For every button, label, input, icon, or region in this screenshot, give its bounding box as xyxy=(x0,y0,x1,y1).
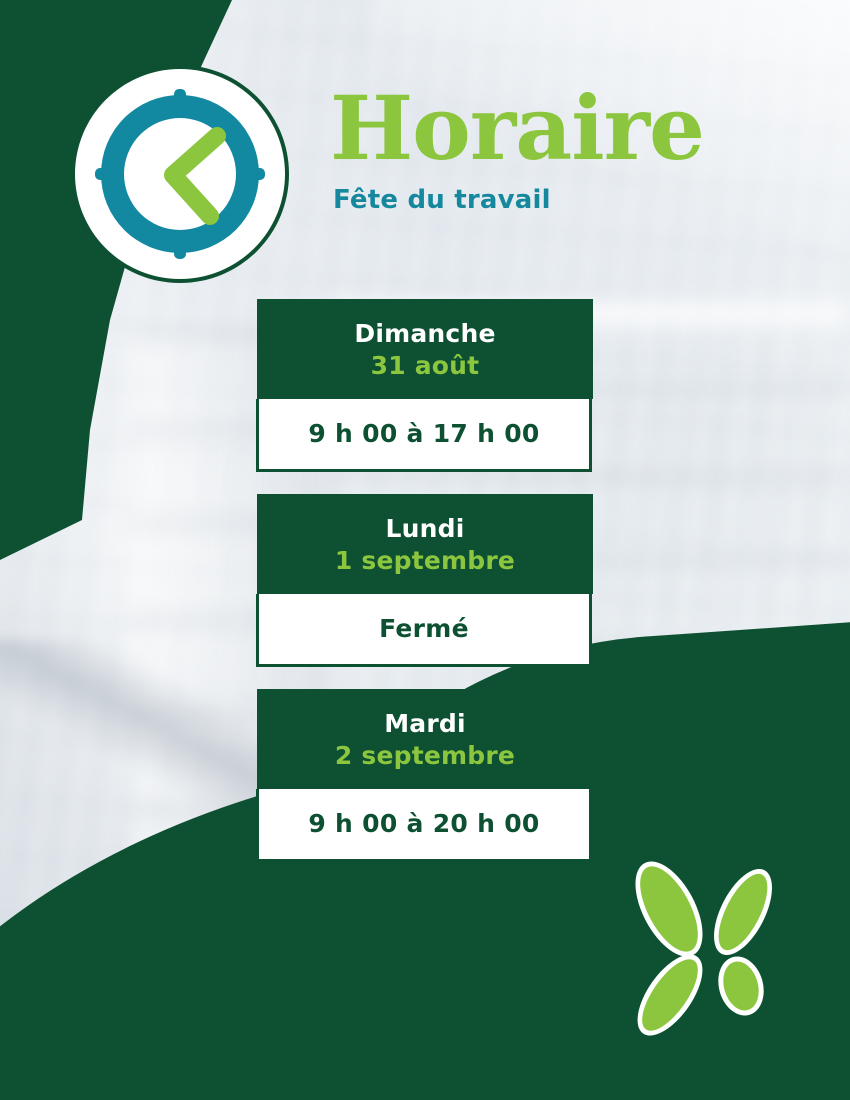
schedule-card-header: Dimanche 31 août xyxy=(257,299,593,399)
schedule-card-hours: 9 h 00 à 17 h 00 xyxy=(267,419,581,448)
schedule-poster: Horaire Fête du travail Dimanche 31 août… xyxy=(0,0,850,1100)
schedule-card-body: 9 h 00 à 17 h 00 xyxy=(256,399,592,472)
schedule-card: Dimanche 31 août 9 h 00 à 17 h 00 xyxy=(257,299,593,472)
schedule-card: Mardi 2 septembre 9 h 00 à 20 h 00 xyxy=(257,689,593,862)
page-subtitle: Fête du travail xyxy=(333,185,760,215)
butterfly-leaf-logo-icon xyxy=(613,857,798,1047)
schedule-card-body: 9 h 00 à 20 h 00 xyxy=(256,789,592,862)
schedule-card-header: Mardi 2 septembre xyxy=(257,689,593,789)
clock-icon xyxy=(69,63,291,285)
schedule-card-day: Dimanche xyxy=(267,319,583,348)
schedule-card-header: Lundi 1 septembre xyxy=(257,494,593,594)
schedule-card-hours: 9 h 00 à 20 h 00 xyxy=(267,809,581,838)
schedule-card-date: 1 septembre xyxy=(267,546,583,576)
schedule-card-hours: Fermé xyxy=(267,614,581,643)
schedule-card-date: 31 août xyxy=(267,351,583,381)
schedule-card-day: Lundi xyxy=(267,514,583,543)
schedule-card-body: Fermé xyxy=(256,594,592,667)
schedule-card-list: Dimanche 31 août 9 h 00 à 17 h 00 Lundi … xyxy=(0,299,850,884)
schedule-card-date: 2 septembre xyxy=(267,741,583,771)
schedule-card-day: Mardi xyxy=(267,709,583,738)
schedule-card: Lundi 1 septembre Fermé xyxy=(257,494,593,667)
page-title: Horaire xyxy=(330,88,760,169)
header-block: Horaire Fête du travail xyxy=(330,88,760,215)
